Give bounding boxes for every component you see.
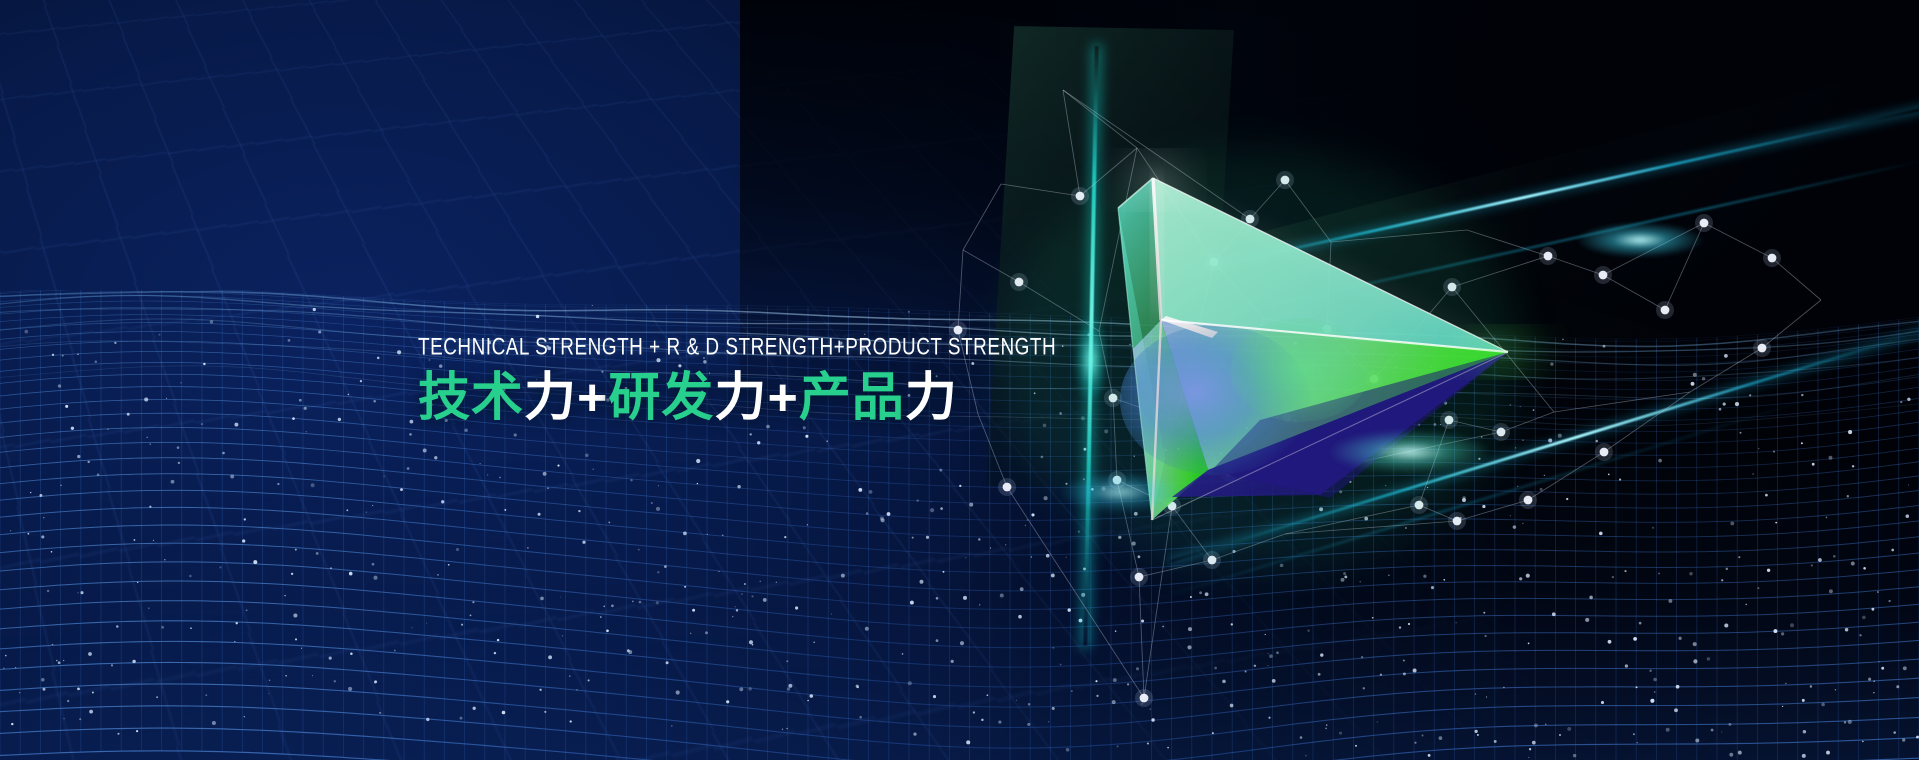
title-plus-2: + — [767, 369, 798, 427]
title-segment-technical: 技术 — [418, 368, 524, 428]
hero-text-block: TECHNICAL STRENGTH + R & D STRENGTH+PROD… — [418, 336, 1143, 426]
title-segment-technical-power: 力 — [524, 368, 577, 428]
title-segment-rnd-power: 力 — [714, 368, 767, 428]
title-segment-product: 产品 — [799, 368, 905, 428]
title-segment-rnd: 研发 — [608, 368, 714, 428]
hero-subtitle-english: TECHNICAL STRENGTH + R & D STRENGTH+PROD… — [418, 335, 1056, 361]
title-plus-1: + — [577, 369, 608, 427]
hero-title-chinese: 技术力+研发力+产品力 — [418, 370, 1143, 426]
hero-banner: TECHNICAL STRENGTH + R & D STRENGTH+PROD… — [0, 0, 1919, 760]
title-segment-product-power: 力 — [905, 368, 958, 428]
